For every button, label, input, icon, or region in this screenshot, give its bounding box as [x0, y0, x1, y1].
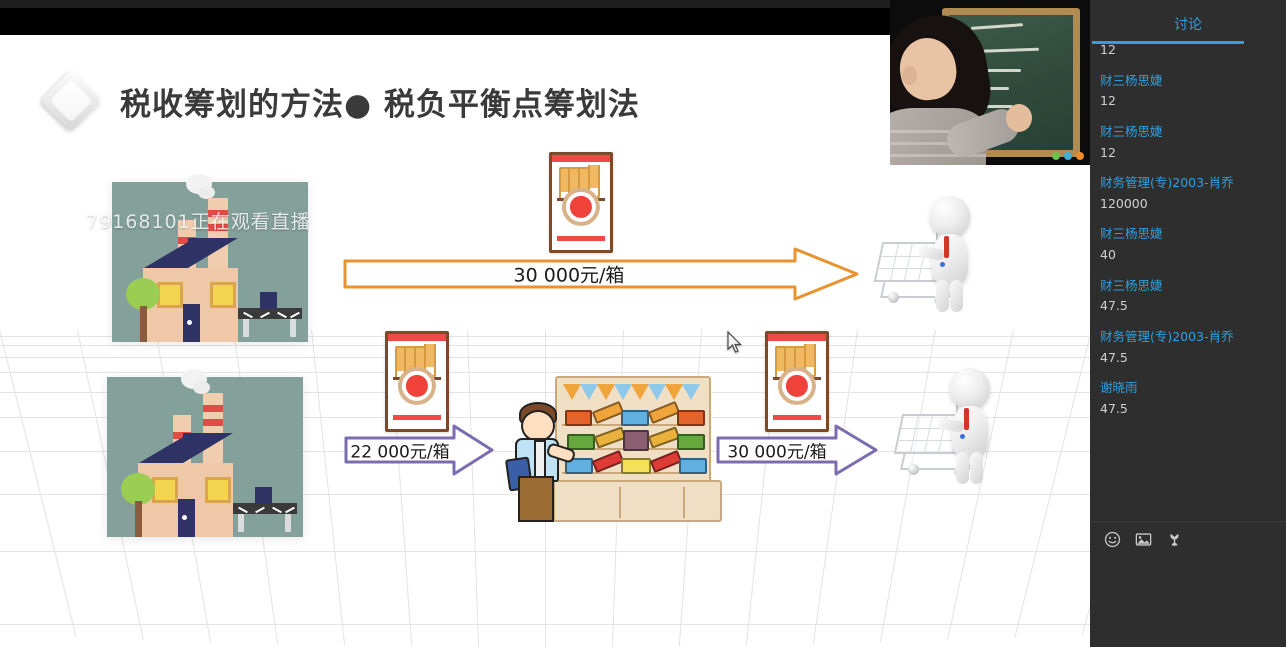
shelf-item — [677, 410, 705, 426]
diamond-bullet-icon — [40, 70, 102, 132]
message-text: 47.5 — [1100, 350, 1276, 366]
factory-window — [205, 477, 231, 503]
shop-counter — [553, 480, 722, 522]
conveyor-belt — [238, 308, 302, 319]
chat-input-area[interactable] — [1090, 558, 1286, 647]
bunting-decoration — [563, 384, 703, 404]
list-item: 财务管理(专)2003-肖乔 120000 — [1100, 175, 1276, 211]
arrow-top-price: 30 000元/箱 — [343, 247, 859, 301]
discussion-sidebar: 讨论 12 财三杨思婕 12 财三杨思婕 12 财务管理(专)2003-肖乔 1… — [1090, 0, 1286, 647]
shelf-item — [592, 450, 625, 473]
gift-flower-icon[interactable] — [1166, 531, 1183, 548]
conveyor-box — [255, 487, 272, 504]
clerk-pants — [518, 476, 554, 522]
belt-leg — [290, 319, 296, 337]
teacher-webcam-overlay[interactable] — [890, 0, 1090, 165]
message-author[interactable]: 财三杨思婕 — [1100, 124, 1276, 140]
shelf-item — [650, 450, 683, 473]
cart-wheel — [888, 292, 899, 303]
message-author[interactable]: 谢晓雨 — [1100, 380, 1276, 396]
grid-line-vertical — [1014, 330, 1090, 638]
message-author[interactable]: 财三杨思婕 — [1100, 73, 1276, 89]
page-title: 税收筹划的方法● 税负平衡点筹划法 — [120, 79, 640, 124]
arrow-bottom-left-price: 22 000元/箱 — [344, 424, 494, 476]
shopkeeper-figure — [507, 402, 573, 518]
shelf-item — [623, 430, 649, 451]
roof-left — [144, 242, 188, 268]
slide-stage: 税收筹划的方法● 税负平衡点筹划法 — [0, 0, 1090, 647]
cigarette-pack-top — [549, 152, 613, 253]
factory-illustration-bottom — [107, 377, 303, 537]
factory-illustration-top — [112, 182, 308, 342]
arrow-top-label: 30 000元/箱 — [343, 261, 795, 288]
shopper-head — [930, 196, 970, 238]
roof-left — [139, 437, 183, 463]
clerk-tie — [534, 440, 546, 478]
message-author[interactable]: 财三杨思婕 — [1100, 278, 1276, 294]
shopper-tie — [964, 408, 969, 430]
shelf-item — [648, 401, 681, 424]
belt-leg — [285, 514, 291, 532]
shelf-item — [677, 434, 705, 450]
teacher-hand — [1006, 104, 1032, 132]
status-dot-blue — [1064, 152, 1072, 160]
tree-trunk — [140, 306, 147, 342]
shopper-leg — [936, 280, 949, 312]
tab-discussion[interactable]: 讨论 — [1090, 14, 1286, 34]
shopper-tie — [944, 236, 949, 258]
grid-line-vertical — [311, 330, 345, 645]
conveyor-box — [260, 292, 277, 309]
shelf-item — [621, 458, 651, 474]
arrow-bottom-right-label: 30 000元/箱 — [716, 438, 838, 463]
roof-right — [183, 433, 233, 463]
list-item: 财三杨思婕 12 — [1100, 73, 1276, 109]
conveyor-belt — [233, 503, 297, 514]
emoji-icon[interactable] — [1104, 531, 1121, 548]
cigarette-pack-lower-right — [765, 331, 829, 432]
shopper-leg — [956, 452, 969, 484]
shelf-item — [648, 426, 681, 448]
list-item: 12 — [1100, 44, 1276, 58]
list-item: 财三杨思婕 47.5 — [1100, 278, 1276, 314]
shelf-item — [594, 426, 627, 448]
chat-message-list[interactable]: 12 财三杨思婕 12 财三杨思婕 12 财务管理(专)2003-肖乔 1200… — [1090, 44, 1286, 521]
grid-line-vertical — [1082, 330, 1090, 635]
live-class-screen: 税收筹划的方法● 税负平衡点筹划法 — [0, 0, 1286, 647]
slide-title-row: 税收筹划的方法● 税负平衡点筹划法 — [40, 70, 640, 132]
factory-door — [183, 304, 200, 342]
shopper-with-cart-top — [878, 196, 988, 320]
viewer-watermark: 79168101正在观看直播 — [86, 207, 311, 234]
webcam-status-dots — [1052, 152, 1084, 160]
message-author[interactable]: 财三杨思婕 — [1100, 226, 1276, 242]
status-dot-green — [1052, 152, 1060, 160]
message-text: 120000 — [1100, 196, 1276, 212]
grid-line-vertical — [0, 330, 77, 638]
factory-window — [152, 477, 178, 503]
mouse-cursor — [727, 331, 743, 355]
message-text: 47.5 — [1100, 298, 1276, 314]
retail-shop-illustration — [505, 368, 720, 518]
shopper-leg — [970, 452, 983, 484]
image-icon[interactable] — [1135, 531, 1152, 548]
list-item: 财务管理(专)2003-肖乔 47.5 — [1100, 329, 1276, 365]
shopper-with-cart-bottom — [898, 368, 1008, 492]
shelf-item — [621, 410, 649, 426]
arrow-bottom-right-price: 30 000元/箱 — [716, 424, 878, 476]
shopper-badge — [960, 434, 965, 439]
list-item: 谢晓雨 47.5 — [1100, 380, 1276, 416]
teacher-ear — [902, 66, 917, 85]
list-item: 财三杨思婕 40 — [1100, 226, 1276, 262]
message-author[interactable]: 财务管理(专)2003-肖乔 — [1100, 175, 1276, 191]
factory-window — [210, 282, 236, 308]
shopper-leg — [950, 280, 963, 312]
message-text: 40 — [1100, 247, 1276, 263]
arrow-bottom-left-label: 22 000元/箱 — [344, 438, 456, 463]
chat-header: 讨论 — [1090, 0, 1286, 44]
roof-right — [188, 238, 238, 268]
status-dot-orange — [1076, 152, 1084, 160]
grid-line-vertical — [467, 330, 479, 647]
belt-leg — [238, 514, 244, 532]
message-text: 12 — [1100, 44, 1276, 58]
shopper-head — [950, 368, 990, 410]
message-text: 12 — [1100, 145, 1276, 161]
shelf-item — [592, 401, 625, 424]
factory-door — [178, 499, 195, 537]
shelf-item — [679, 458, 707, 474]
cart-wheel — [908, 464, 919, 475]
message-text: 12 — [1100, 93, 1276, 109]
shopper-badge — [940, 262, 945, 267]
list-item: 财三杨思婕 12 — [1100, 124, 1276, 160]
message-author[interactable]: 财务管理(专)2003-肖乔 — [1100, 329, 1276, 345]
shop-shelf-unit — [555, 376, 711, 484]
cigarette-pack-lower-left — [385, 331, 449, 432]
factory-window — [157, 282, 183, 308]
belt-leg — [243, 319, 249, 337]
message-text: 47.5 — [1100, 401, 1276, 417]
chat-toolbar — [1090, 521, 1286, 558]
teacher-figure — [890, 16, 1000, 165]
tree-trunk — [135, 501, 142, 537]
